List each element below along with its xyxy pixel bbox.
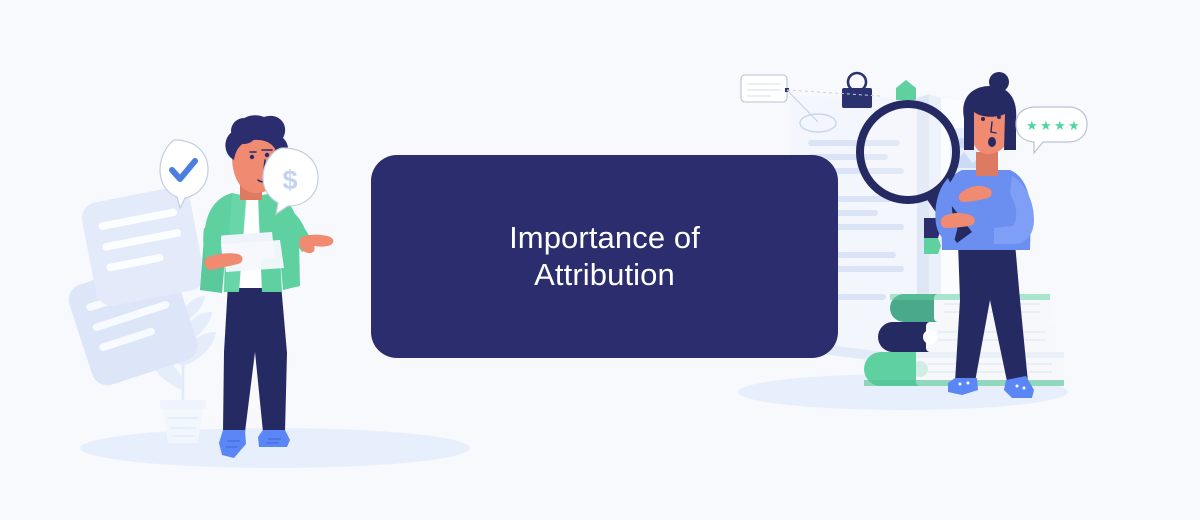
- banner-card: Importance of Attribution: [371, 155, 838, 358]
- page-title: Importance of Attribution: [481, 220, 728, 293]
- page-tab-green: [924, 238, 941, 254]
- svg-text:★: ★: [1026, 118, 1038, 133]
- right-character-hand-left: [941, 213, 975, 228]
- right-eye-right: [997, 115, 1001, 119]
- right-character-top-knot: [989, 72, 1009, 92]
- svg-text:★: ★: [1068, 118, 1080, 133]
- illustration-banner: $: [0, 0, 1200, 520]
- binder-clip-icon: [842, 73, 872, 108]
- right-character-neck: [976, 152, 998, 176]
- svg-text:★: ★: [1054, 118, 1066, 133]
- rating-bubble: ★ ★ ★ ★: [1016, 107, 1087, 153]
- right-eye-left: [981, 117, 985, 121]
- right-mouth: [988, 137, 996, 147]
- bookmark-tab-icon: [896, 80, 916, 100]
- svg-text:★: ★: [1040, 118, 1052, 133]
